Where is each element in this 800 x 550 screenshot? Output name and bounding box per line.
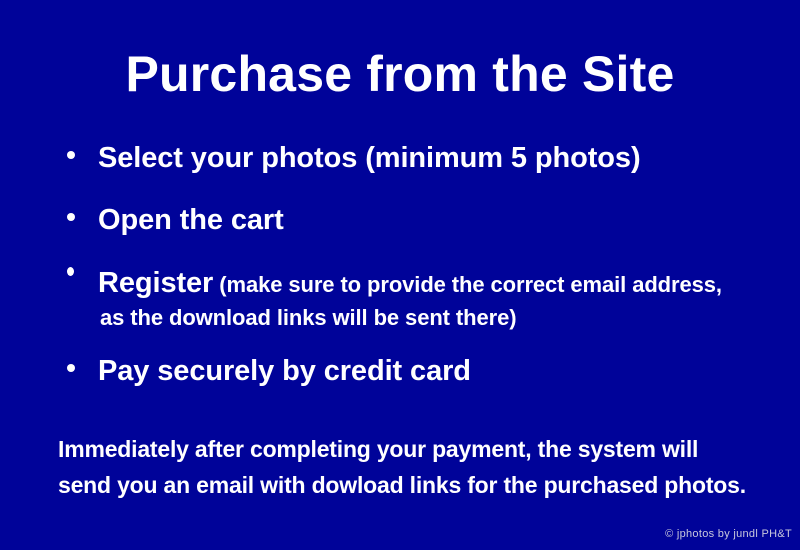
bullet-dot-icon: [67, 267, 74, 276]
copyright-credit: © jphotos by jundl PH&T: [665, 528, 792, 540]
page-title: Purchase from the Site: [0, 48, 800, 101]
list-item-text: Pay securely by credit card: [98, 355, 471, 387]
slide-canvas: Purchase from the Site Select your photo…: [0, 0, 800, 550]
list-item-note: (make sure to provide the correct email …: [213, 272, 722, 297]
closing-paragraph: Immediately after completing your paymen…: [58, 432, 778, 503]
list-item: Open the cart: [58, 202, 758, 238]
closing-line-2: send you an email with dowload links for…: [58, 468, 778, 504]
list-item-note-line2: as the download links will be sent there…: [100, 305, 758, 331]
bullet-dot-icon: [67, 151, 75, 159]
closing-line-1: Immediately after completing your paymen…: [58, 432, 778, 468]
list-item-text: Register: [98, 267, 213, 299]
list-item: Register (make sure to provide the corre…: [58, 265, 758, 331]
list-item-text: Open the cart: [98, 204, 284, 236]
list-item-text: Select your photos (minimum 5 photos): [98, 142, 641, 174]
list-item: Select your photos (minimum 5 photos): [58, 140, 758, 176]
list-item: Pay securely by credit card: [58, 353, 758, 389]
bullet-dot-icon: [67, 213, 75, 221]
bullet-list: Select your photos (minimum 5 photos) Op…: [58, 140, 758, 415]
bullet-dot-icon: [67, 364, 75, 372]
